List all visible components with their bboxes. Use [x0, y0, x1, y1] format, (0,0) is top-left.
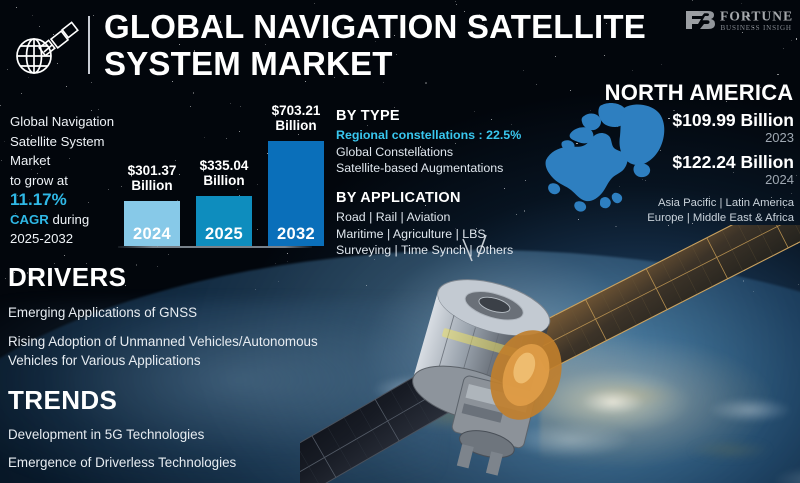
- na-figure: $122.24 Billion 2024: [672, 152, 794, 187]
- segment-by-type: BY TYPE Regional constellations : 22.5% …: [336, 108, 536, 177]
- fb-monogram-icon: [686, 11, 715, 29]
- trend-item: Development in 5G Technologies: [8, 425, 308, 444]
- segment-by-application: BY APPLICATION Road | Rail | Aviation Ma…: [336, 190, 541, 259]
- trend-item: Emergence of Driverless Technologies: [8, 453, 308, 472]
- na-amount: $109.99 Billion: [672, 110, 794, 131]
- by-application-line: Road | Rail | Aviation: [336, 209, 541, 226]
- regions-line: Europe | Middle East & Africa: [564, 211, 794, 226]
- fortune-business-insights-logo: FORTUNE BUSINESS INSIGHTS: [684, 7, 792, 33]
- infographic-canvas: GLOBAL NAVIGATION SATELLITE SYSTEM MARKE…: [0, 0, 800, 483]
- by-type-item: Satellite-based Augmentations: [336, 160, 536, 177]
- bar-year-label: 2024: [124, 225, 180, 244]
- logo-name: FORTUNE: [720, 9, 792, 24]
- drivers-section: DRIVERS Emerging Applications of GNSS Ri…: [8, 262, 338, 370]
- chart-baseline: [118, 246, 312, 248]
- by-application-heading: BY APPLICATION: [336, 190, 541, 206]
- by-type-item: Regional constellations : 22.5%: [336, 127, 536, 144]
- market-size-bar-chart: $301.37Billion 2024 $335.04Billion 2025 …: [112, 100, 312, 252]
- cagr-label: CAGR: [10, 212, 49, 227]
- during-label: during: [49, 212, 89, 227]
- na-amount: $122.24 Billion: [672, 152, 794, 173]
- driver-item: Rising Adoption of Unmanned Vehicles/Aut…: [8, 332, 338, 370]
- by-type-item: Global Constellations: [336, 144, 536, 161]
- page-title: GLOBAL NAVIGATION SATELLITE SYSTEM MARKE…: [104, 8, 684, 82]
- trends-heading: TRENDS: [8, 385, 308, 416]
- by-type-heading: BY TYPE: [336, 108, 536, 124]
- regions-line: Asia Pacific | Latin America: [564, 196, 794, 211]
- na-figure: $109.99 Billion 2023: [672, 110, 794, 145]
- satellite-illustration: [300, 225, 800, 483]
- na-year: 2024: [672, 172, 794, 187]
- title-divider: [88, 16, 90, 74]
- by-application-line: Maritime | Agriculture | LBS: [336, 226, 541, 243]
- na-year: 2023: [672, 130, 794, 145]
- bar-value-label: $301.37Billion: [112, 163, 192, 193]
- logo-subtitle: BUSINESS INSIGHTS: [721, 24, 793, 32]
- bar-year-label: 2025: [196, 225, 252, 244]
- bar-year-label: 2032: [268, 225, 324, 244]
- bar-value-label: $335.04Billion: [184, 158, 264, 188]
- bar-value-label: $703.21Billion: [256, 103, 336, 133]
- trends-section: TRENDS Development in 5G Technologies Em…: [8, 385, 308, 472]
- globe-satellite-icon: [8, 16, 86, 78]
- driver-item: Emerging Applications of GNSS: [8, 303, 338, 322]
- by-application-line: Surveying | Time Synch | Others: [336, 242, 541, 259]
- north-america-title: NORTH AMERICA: [600, 80, 798, 106]
- drivers-heading: DRIVERS: [8, 262, 338, 293]
- header: GLOBAL NAVIGATION SATELLITE SYSTEM MARKE…: [0, 0, 800, 88]
- other-regions-list: Asia Pacific | Latin America Europe | Mi…: [564, 196, 794, 226]
